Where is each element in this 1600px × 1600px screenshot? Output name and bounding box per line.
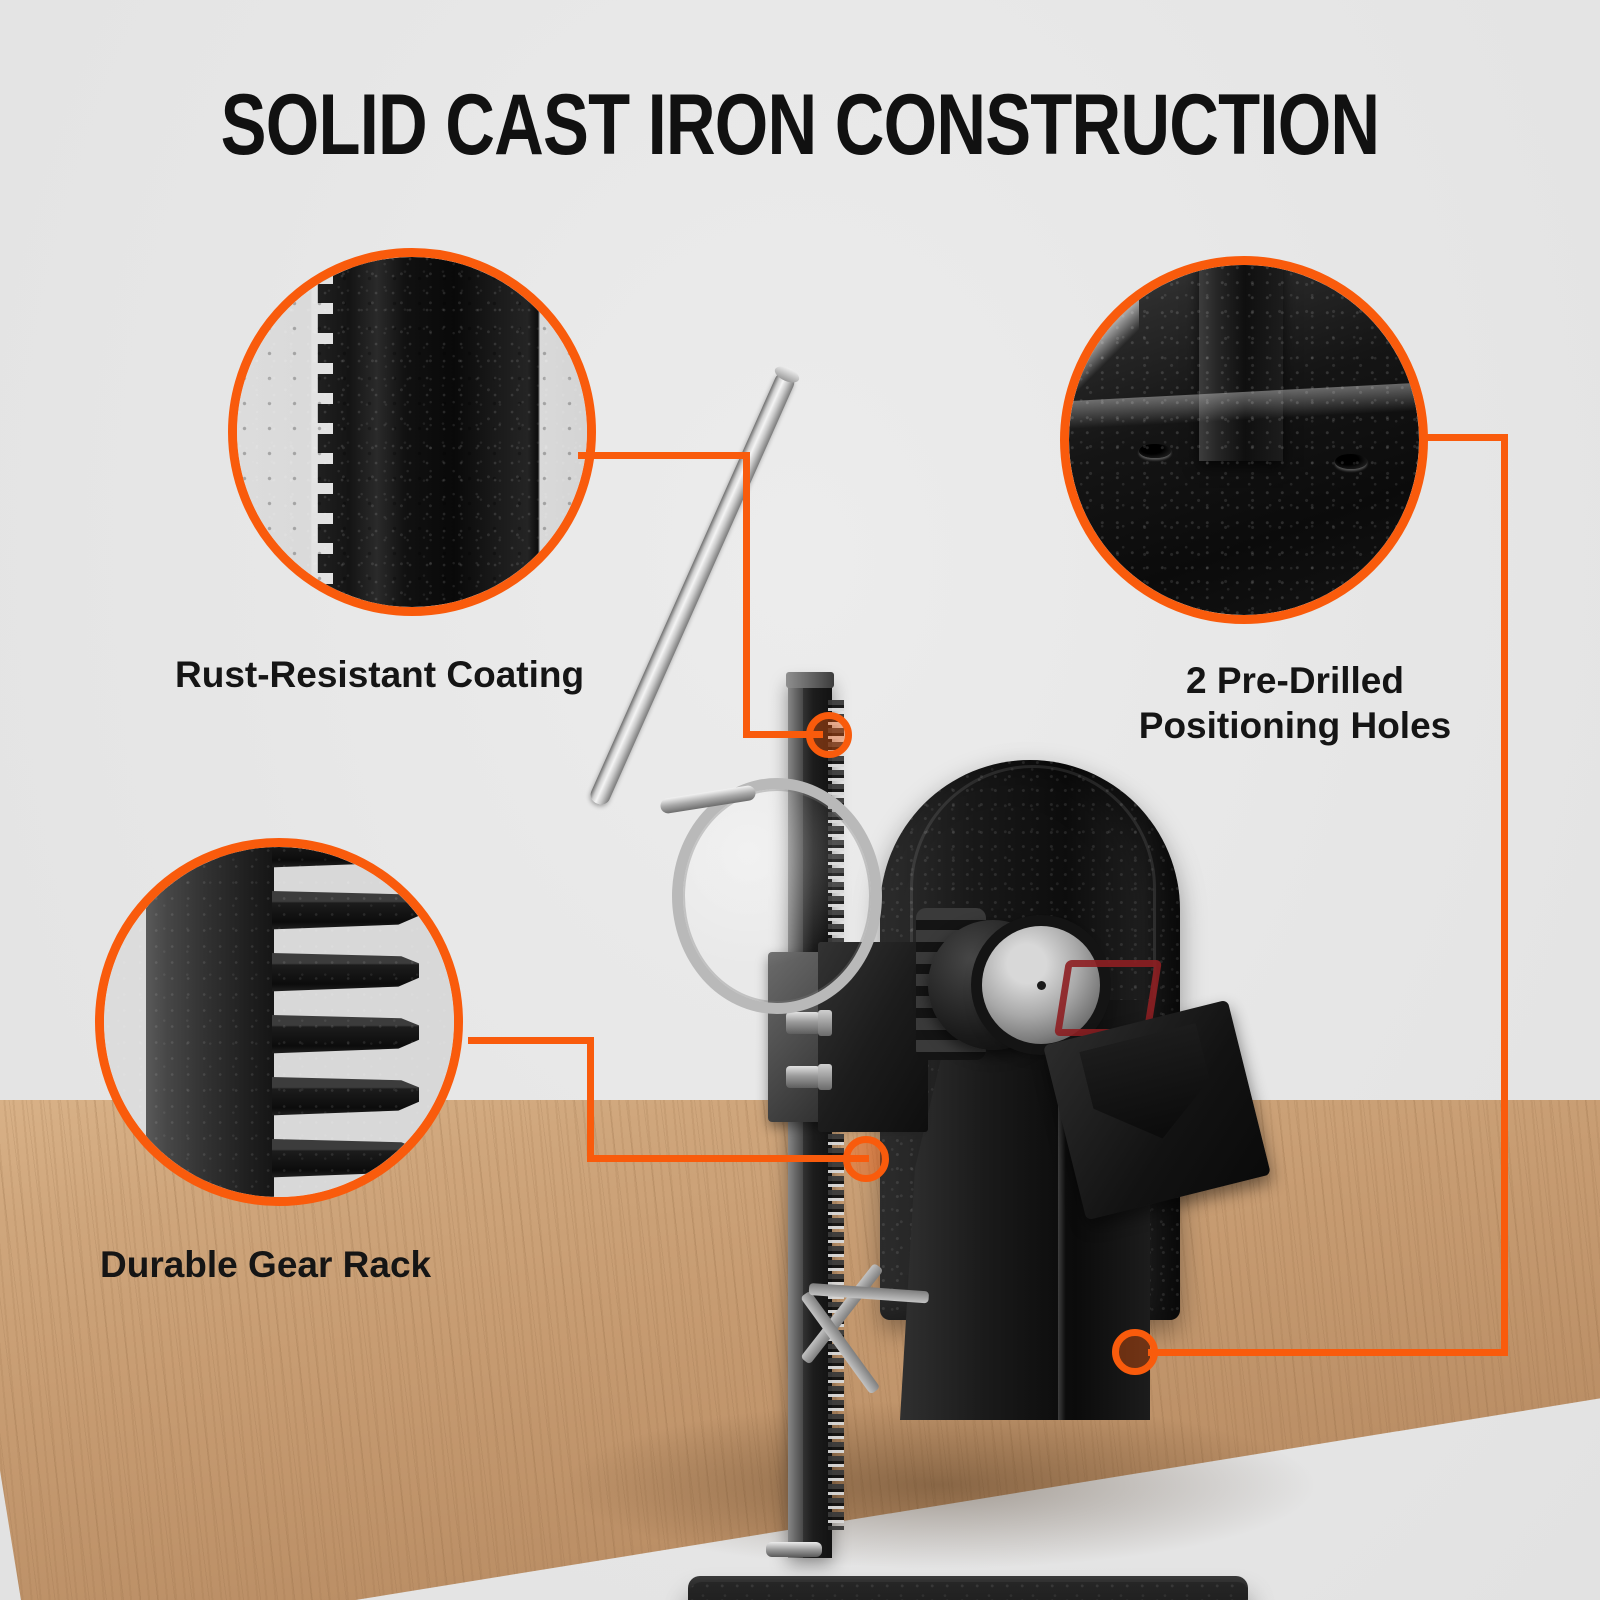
callout-bubble-rust-resistant-coating <box>228 248 596 616</box>
lower-set-screw <box>766 1542 822 1557</box>
callout-label-rust-resistant-coating: Rust-Resistant Coating <box>175 652 735 697</box>
rack-texture <box>104 847 454 1197</box>
bracket-bolt-upper <box>786 1012 820 1034</box>
target-marker-coating <box>806 712 852 758</box>
detail-photo-gear-rack <box>104 847 454 1197</box>
connector-line-holes-h2 <box>1148 1349 1508 1356</box>
connector-line-holes-h1 <box>1424 434 1508 441</box>
detail-photo-coating <box>237 257 587 607</box>
base-casting-texture <box>688 1582 1248 1600</box>
connector-line-rack-v <box>587 1037 594 1162</box>
handwheel <box>672 778 882 1014</box>
pinion-center-dot <box>1037 981 1046 990</box>
bracket-bolt-lower <box>786 1066 820 1088</box>
connector-line-coating-h1 <box>578 452 750 459</box>
callout-bubble-positioning-holes <box>1060 256 1428 624</box>
base-texture <box>1069 265 1419 615</box>
coating-texture <box>237 257 587 607</box>
callout-bubble-gear-rack <box>95 838 463 1206</box>
press-lever-handle <box>588 370 797 808</box>
target-marker-gear-rack <box>843 1136 889 1182</box>
connector-line-rack-h1 <box>468 1037 594 1044</box>
detail-photo-holes <box>1069 265 1419 615</box>
connector-line-holes-v <box>1501 434 1508 1356</box>
callout-label-positioning-holes: 2 Pre-Drilled Positioning Holes <box>1080 658 1510 748</box>
connector-line-coating-v <box>743 452 750 738</box>
ram-top-cap <box>786 672 834 688</box>
callout-label-durable-gear-rack: Durable Gear Rack <box>100 1242 600 1287</box>
bracket-nut-upper <box>818 1010 832 1036</box>
page-title: SOLID CAST IRON CONSTRUCTION <box>160 78 1440 172</box>
target-marker-holes <box>1112 1329 1158 1375</box>
infographic-canvas: SOLID CAST IRON CONSTRUCTION <box>0 0 1600 1600</box>
bracket-nut-lower <box>818 1064 832 1090</box>
connector-line-rack-h2 <box>587 1155 869 1162</box>
